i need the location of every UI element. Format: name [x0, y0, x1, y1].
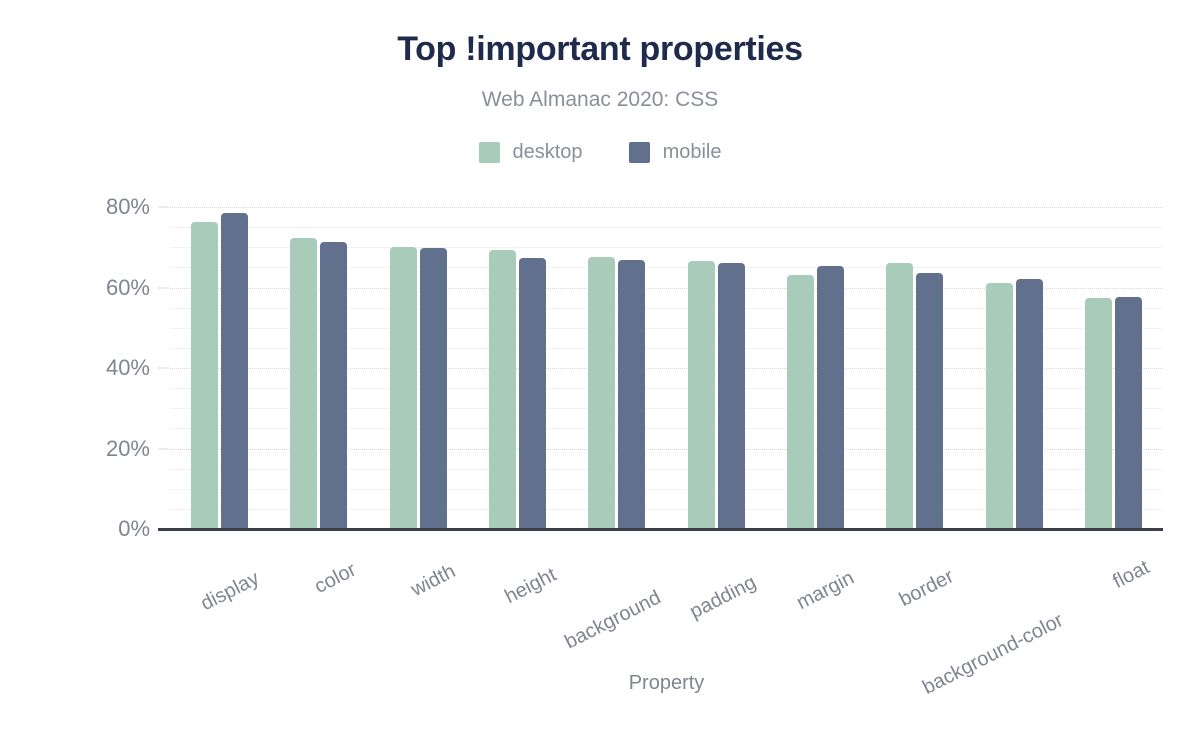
bar-group — [865, 207, 964, 529]
bar-group — [468, 207, 567, 529]
x-axis-ticks: displaycolorwidthheightbackgroundpadding… — [170, 529, 1163, 669]
bar-mobile-background[interactable] — [618, 260, 645, 529]
bar-mobile-width[interactable] — [420, 248, 447, 529]
bar-desktop-border[interactable] — [886, 263, 913, 529]
bar-mobile-display[interactable] — [221, 213, 248, 529]
legend-label-mobile: mobile — [663, 141, 722, 164]
bar-desktop-height[interactable] — [489, 250, 516, 529]
x-tick-label-height: height — [501, 564, 560, 609]
bar-group — [269, 207, 368, 529]
x-tick-label-background: background — [561, 586, 665, 654]
legend-label-desktop: desktop — [513, 141, 583, 164]
x-tick-label-margin: margin — [794, 567, 859, 615]
y-tick-label-20: 20% — [10, 436, 150, 462]
bar-mobile-border[interactable] — [916, 273, 943, 529]
plot-area — [170, 207, 1163, 529]
bar-group — [369, 207, 468, 529]
y-tick-mark-20 — [158, 448, 169, 449]
bar-mobile-height[interactable] — [519, 258, 546, 529]
bar-group — [964, 207, 1063, 529]
bar-desktop-background-color[interactable] — [986, 283, 1013, 529]
bar-group — [667, 207, 766, 529]
bar-desktop-padding[interactable] — [688, 261, 715, 529]
y-tick-mark-60 — [158, 287, 169, 288]
legend-item-desktop[interactable]: desktop — [479, 141, 583, 164]
y-tick-label-0: 0% — [10, 516, 150, 542]
chart-legend: desktopmobile — [0, 141, 1200, 164]
legend-item-mobile[interactable]: mobile — [629, 141, 722, 164]
x-tick-label-width: width — [408, 560, 460, 602]
chart-figure: Top !important properties Web Almanac 20… — [0, 0, 1200, 742]
bar-desktop-width[interactable] — [390, 247, 417, 529]
x-tick-label-float: float — [1110, 556, 1154, 594]
x-tick-label-color: color — [311, 559, 360, 599]
bar-mobile-color[interactable] — [320, 242, 347, 529]
bar-group — [567, 207, 666, 529]
bar-mobile-float[interactable] — [1115, 297, 1142, 529]
x-tick-label-padding: padding — [686, 571, 760, 624]
bar-mobile-margin[interactable] — [817, 266, 844, 529]
bar-group — [170, 207, 269, 529]
bar-mobile-background-color[interactable] — [1016, 279, 1043, 529]
bar-desktop-background[interactable] — [588, 257, 615, 529]
x-axis-label: Property — [170, 672, 1163, 695]
y-tick-mark-40 — [158, 368, 169, 369]
chart-subtitle: Web Almanac 2020: CSS — [0, 88, 1200, 112]
y-tick-label-80: 80% — [10, 194, 150, 220]
bar-desktop-margin[interactable] — [787, 275, 814, 529]
bar-desktop-float[interactable] — [1085, 298, 1112, 529]
bar-desktop-display[interactable] — [191, 222, 218, 529]
bar-group — [1064, 207, 1163, 529]
chart-title: Top !important properties — [0, 30, 1200, 69]
bar-groups — [170, 207, 1163, 529]
bar-group — [766, 207, 865, 529]
y-tick-mark-80 — [158, 207, 169, 208]
x-tick-label-display: display — [197, 567, 263, 616]
y-tick-label-40: 40% — [10, 355, 150, 381]
x-tick-label-border: border — [896, 565, 958, 612]
legend-swatch-mobile — [629, 142, 650, 163]
legend-swatch-desktop — [479, 142, 500, 163]
bar-mobile-padding[interactable] — [718, 263, 745, 529]
bar-desktop-color[interactable] — [290, 238, 317, 529]
y-tick-label-60: 60% — [10, 275, 150, 301]
